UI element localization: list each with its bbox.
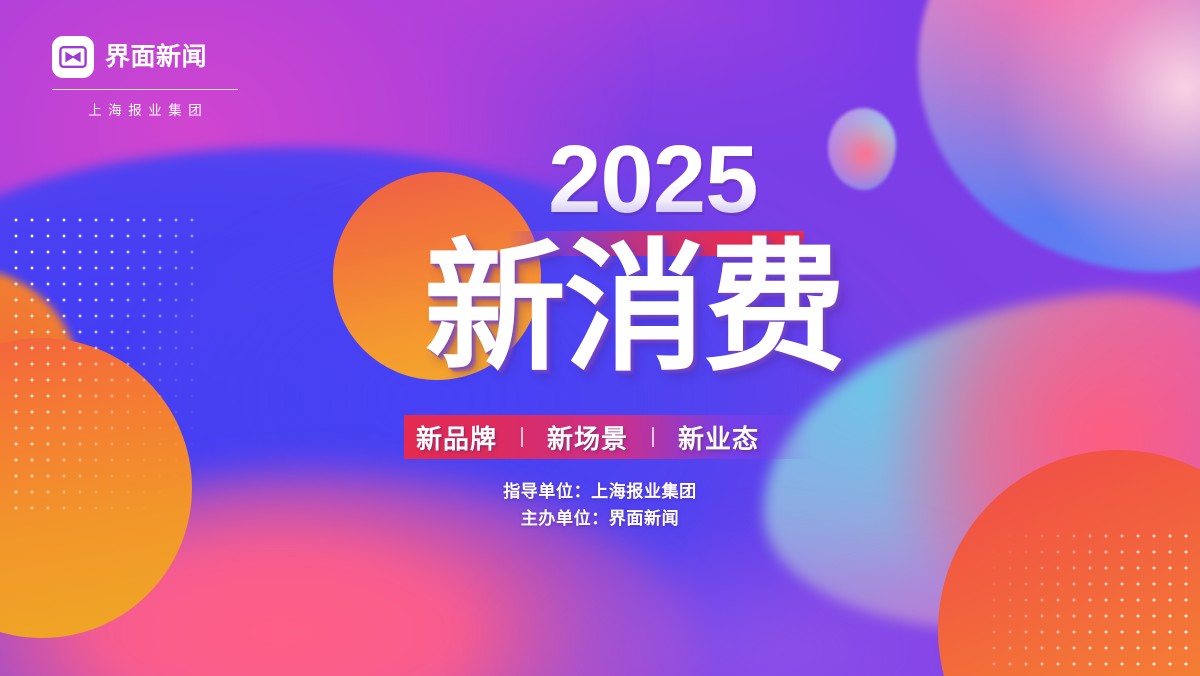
brand-lockup: 界面新闻 上海报业集团 xyxy=(52,36,242,119)
hero-title: 新消费 xyxy=(424,238,844,380)
dot-grid-left xyxy=(8,212,198,512)
tagline-item-3: 新业态 xyxy=(678,419,759,456)
hero-year: 2025 xyxy=(548,132,758,228)
dot-grid-right xyxy=(986,528,1200,676)
tagline-item-2: 新场景 xyxy=(547,419,628,456)
poster-canvas: 界面新闻 上海报业集团 2025 新消费 新品牌 新场景 新业态 指导单位：上海… xyxy=(0,0,1200,676)
jiemian-news-logo-icon xyxy=(52,36,94,78)
brand-row: 界面新闻 xyxy=(52,36,242,78)
credit-line-organizer: 主办单位：界面新闻 xyxy=(0,505,1200,532)
tagline-separator-icon xyxy=(521,427,523,447)
brand-sub-label: 上海报业集团 xyxy=(52,99,238,119)
tagline-group: 新品牌 新场景 新业态 xyxy=(416,415,759,459)
brand-wordmark: 界面新闻 xyxy=(105,45,207,70)
tagline-item-1: 新品牌 xyxy=(416,419,497,456)
tagline-separator-icon xyxy=(652,427,654,447)
brand-divider xyxy=(52,89,238,90)
credits-block: 指导单位：上海报业集团 主办单位：界面新闻 xyxy=(0,478,1200,532)
gradient-blob-small xyxy=(828,108,896,190)
credit-line-guidance: 指导单位：上海报业集团 xyxy=(0,478,1200,505)
